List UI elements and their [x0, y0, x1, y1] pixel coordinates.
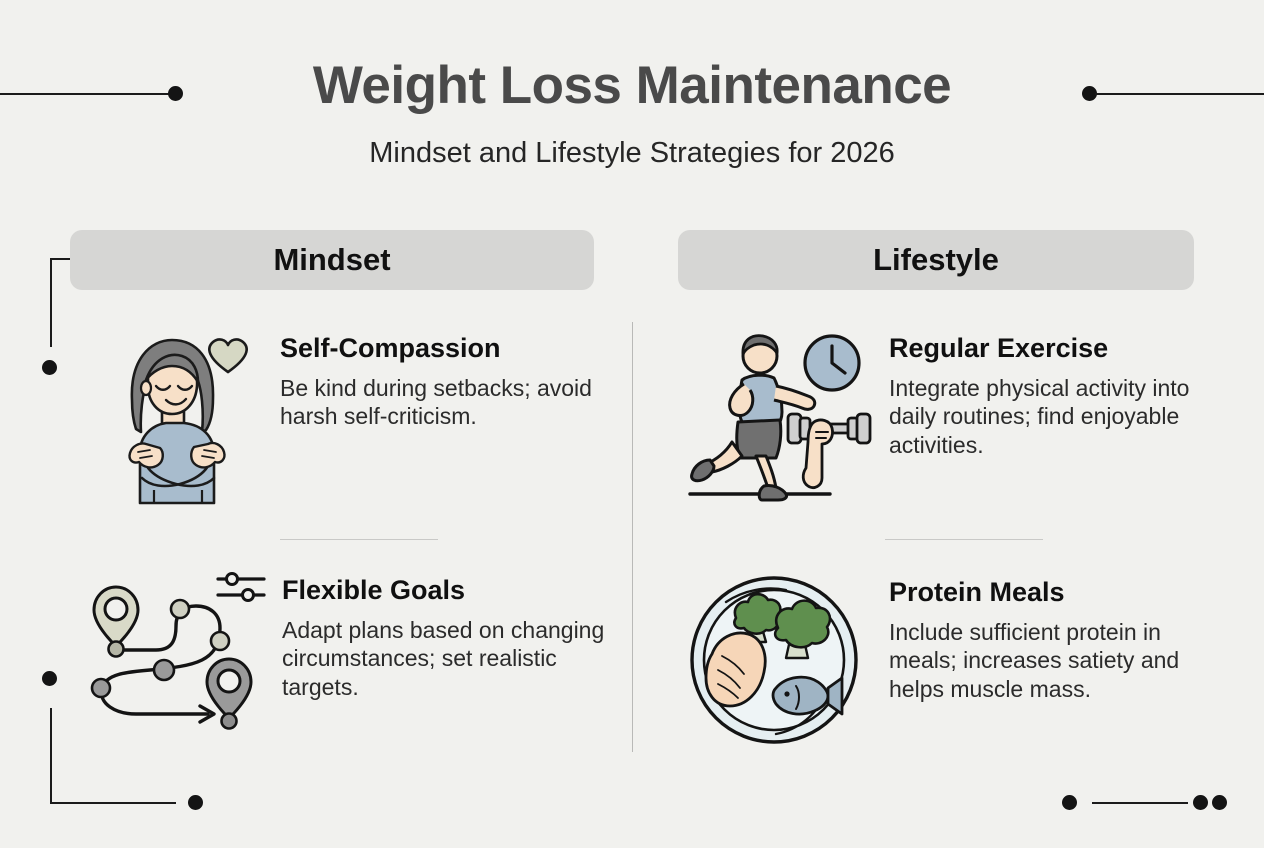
card-flexible-goals: Flexible Goals Adapt plans based on chan…: [72, 570, 612, 750]
card-flexible-goals-desc: Adapt plans based on changing circumstan…: [282, 616, 607, 702]
bottom-right-decorative-dot-1: [1062, 795, 1077, 810]
card-self-compassion-title: Self-Compassion: [280, 334, 610, 364]
card-regular-exercise-desc: Integrate physical activity into daily r…: [889, 374, 1218, 460]
left-upper-decorative-dot: [42, 360, 57, 375]
left-upper-bracket-arm: [50, 258, 72, 260]
card-protein-meals-body: Protein Meals Include sufficient protein…: [871, 572, 1216, 704]
column-heading-lifestyle-label: Lifestyle: [873, 242, 999, 278]
card-flexible-goals-title: Flexible Goals: [282, 576, 612, 606]
column-heading-lifestyle: Lifestyle: [678, 230, 1194, 290]
page-title: Weight Loss Maintenance: [0, 57, 1264, 115]
self-hug-woman-with-heart-icon: [110, 328, 280, 503]
left-upper-bracket-line: [50, 259, 52, 347]
column-heading-mindset-label: Mindset: [273, 242, 390, 278]
left-lower-bracket-line: [50, 708, 52, 804]
card-self-compassion-desc: Be kind during setbacks; avoid harsh sel…: [280, 374, 610, 432]
column-heading-mindset: Mindset: [70, 230, 594, 290]
card-protein-meals-title: Protein Meals: [889, 578, 1216, 608]
card-protein-meals-desc: Include sufficient protein in meals; inc…: [889, 618, 1216, 704]
bottom-left-decorative-dot: [188, 795, 203, 810]
runner-clock-dumbbell-icon: [688, 328, 873, 508]
card-regular-exercise-body: Regular Exercise Integrate physical acti…: [873, 328, 1218, 460]
card-regular-exercise-title: Regular Exercise: [889, 334, 1218, 364]
plate-chicken-broccoli-fish-icon: [686, 572, 871, 752]
card-self-compassion-body: Self-Compassion Be kind during setbacks;…: [280, 328, 610, 431]
bottom-right-decorative-dot-3: [1212, 795, 1227, 810]
left-lower-decorative-dot: [42, 671, 57, 686]
winding-route-map-pins-sliders-icon: [72, 570, 272, 750]
infographic-poster: Weight Loss Maintenance Mindset and Life…: [0, 0, 1264, 848]
mindset-card-separator: [280, 539, 438, 540]
column-divider: [632, 322, 633, 752]
left-lower-bracket-arm: [50, 802, 176, 804]
card-regular-exercise: Regular Exercise Integrate physical acti…: [688, 328, 1218, 508]
card-flexible-goals-body: Flexible Goals Adapt plans based on chan…: [272, 570, 612, 702]
lifestyle-card-separator: [885, 539, 1043, 540]
card-protein-meals: Protein Meals Include sufficient protein…: [686, 572, 1216, 752]
card-self-compassion: Self-Compassion Be kind during setbacks;…: [110, 328, 610, 503]
bottom-right-decorative-line: [1092, 802, 1188, 804]
bottom-right-decorative-dot-2: [1193, 795, 1208, 810]
page-subtitle: Mindset and Lifestyle Strategies for 202…: [0, 136, 1264, 171]
